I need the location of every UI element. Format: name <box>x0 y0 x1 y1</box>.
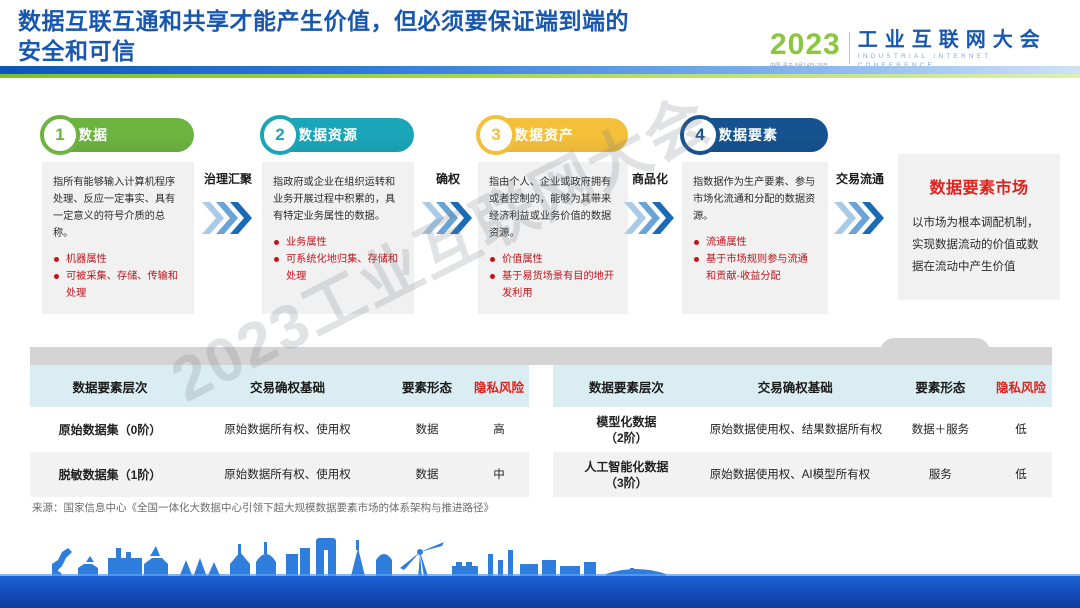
table-cell: 脱敏数据集（1阶） <box>30 452 190 497</box>
page-title-line1: 数据互联互通和共享才能产生价值，但必须要保证端到端的 <box>18 6 748 36</box>
table-cell: 高 <box>469 407 529 452</box>
table-cell: 低 <box>990 452 1052 497</box>
page-title-line2: 安全和可信 <box>18 36 748 66</box>
flow-step-4-bullet: 基于市场规则参与流通和贡献-收益分配 <box>693 251 817 285</box>
logo-divider <box>849 32 850 64</box>
logo-name-cn: 工业互联网大会 <box>858 30 1070 51</box>
table-header-cell: 交易确权基础 <box>190 365 385 407</box>
table-header-cell: 数据要素层次 <box>30 365 190 407</box>
logo-year-block: 2023 中国·青岛 8月14日-18日 <box>770 30 841 69</box>
data-value-chain-flow: 1 数据 指所有能够输入计算机程序处理、反应一定事实、具有一定意义的符号介质的总… <box>0 118 1080 343</box>
table-body: 原始数据集（0阶）原始数据所有权、使用权数据高脱敏数据集（1阶）原始数据所有权、… <box>30 407 529 497</box>
table-cell: 模型化数据（2阶） <box>553 407 700 452</box>
flow-step-3-bullets: 价值属性基于易货场景有目的地开发利用 <box>489 251 617 302</box>
flow-step-2: 2 数据资源 指政府或企业在组织运转和业务开展过程中积累的，具有特定业务属性的数… <box>262 118 414 314</box>
table-cell: 原始数据所有权、使用权 <box>190 452 385 497</box>
table-cell: 原始数据使用权、结果数据所有权 <box>700 407 891 452</box>
flow-step-4-card: 指数据作为生产要素、参与市场化流通和分配的数据资源。 流通属性基于市场规则参与流… <box>682 162 828 314</box>
market-panel-title: 数据要素市场 <box>912 174 1046 198</box>
table-cell: 人工智能化数据（3阶） <box>553 452 700 497</box>
flow-step-2-card: 指政府或企业在组织运转和业务开展过程中积累的，具有特定业务属性的数据。 业务属性… <box>262 162 414 314</box>
table-header-cell: 隐私风险 <box>469 365 529 407</box>
flow-step-1: 1 数据 指所有能够输入计算机程序处理、反应一定事实、具有一定意义的符号介质的总… <box>42 118 194 314</box>
flow-step-1-description: 指所有能够输入计算机程序处理、反应一定事实、具有一定意义的符号介质的总称。 <box>53 174 183 242</box>
flow-connector-1-label: 治理汇聚 <box>190 170 266 187</box>
data-tier-table-right: 数据要素层次交易确权基础要素形态隐私风险 模型化数据（2阶）原始数据使用权、结果… <box>553 365 1052 497</box>
table-cell: 数据 <box>385 452 469 497</box>
table-cell: 数据 <box>385 407 469 452</box>
table-cell: 低 <box>990 407 1052 452</box>
flow-step-4: 4 数据要素 指数据作为生产要素、参与市场化流通和分配的数据资源。 流通属性基于… <box>682 118 828 314</box>
chevron-right-icon <box>612 197 688 239</box>
table-band <box>30 347 1052 365</box>
table-cell: 原始数据集（0阶） <box>30 407 190 452</box>
flow-step-4-bullets: 流通属性基于市场规则参与流通和贡献-收益分配 <box>693 234 817 285</box>
table-row[interactable]: 模型化数据（2阶）原始数据使用权、结果数据所有权数据＋服务低 <box>553 407 1052 452</box>
flow-connector-3-label: 商品化 <box>612 170 688 187</box>
flow-step-3-number: 3 <box>476 115 516 155</box>
flow-step-2-bullets: 业务属性可系统化地归集、存储和处理 <box>273 234 403 285</box>
table-header-cell: 要素形态 <box>385 365 469 407</box>
flow-step-1-card: 指所有能够输入计算机程序处理、反应一定事实、具有一定意义的符号介质的总称。 机器… <box>42 162 194 314</box>
flow-connector-2-label: 确权 <box>410 170 486 187</box>
data-tier-table-left: 数据要素层次交易确权基础要素形态隐私风险 原始数据集（0阶）原始数据所有权、使用… <box>30 365 529 497</box>
table-cell: 数据＋服务 <box>891 407 990 452</box>
market-panel-description: 以市场为根本调配机制，实现数据流动的价值或数据在流动中产生价值 <box>912 212 1046 278</box>
header-green-rule <box>0 74 1080 78</box>
flow-step-2-label: 数据资源 <box>298 125 358 145</box>
table-header-row: 数据要素层次交易确权基础要素形态隐私风险 <box>553 365 1052 407</box>
flow-step-4-bullet: 流通属性 <box>693 234 817 251</box>
flow-step-3-pill: 3 数据资产 <box>478 118 628 152</box>
city-skyline-icon <box>0 538 1080 580</box>
table-row[interactable]: 人工智能化数据（3阶）原始数据使用权、AI模型所有权服务低 <box>553 452 1052 497</box>
data-tier-tables: 数据要素层次交易确权基础要素形态隐私风险 原始数据集（0阶）原始数据所有权、使用… <box>30 365 1052 495</box>
table-header-cell: 要素形态 <box>891 365 990 407</box>
flow-step-4-label: 数据要素 <box>718 125 778 145</box>
table-cell: 服务 <box>891 452 990 497</box>
header-blue-rule <box>0 66 1080 74</box>
page-title: 数据互联互通和共享才能产生价值，但必须要保证端到端的 安全和可信 <box>18 6 748 66</box>
flow-step-2-bullet: 业务属性 <box>273 234 403 251</box>
flow-step-1-number: 1 <box>40 115 80 155</box>
flow-step-2-number: 2 <box>260 115 300 155</box>
table-body: 模型化数据（2阶）原始数据使用权、结果数据所有权数据＋服务低人工智能化数据（3阶… <box>553 407 1052 497</box>
flow-connector-1: 治理汇聚 <box>190 170 266 239</box>
flow-step-3-label: 数据资产 <box>514 125 574 145</box>
flow-step-4-number: 4 <box>680 115 720 155</box>
table-header-cell: 数据要素层次 <box>553 365 700 407</box>
data-element-market-panel: 数据要素市场 以市场为根本调配机制，实现数据流动的价值或数据在流动中产生价值 <box>898 154 1060 300</box>
flow-step-2-description: 指政府或企业在组织运转和业务开展过程中积累的，具有特定业务属性的数据。 <box>273 174 403 225</box>
flow-step-1-bullet: 可被采集、存储、传输和处理 <box>53 268 183 302</box>
flow-step-1-bullets: 机器属性可被采集、存储、传输和处理 <box>53 251 183 302</box>
flow-step-1-label: 数据 <box>78 125 108 145</box>
logo-year: 2023 <box>770 30 841 60</box>
flow-step-4-description: 指数据作为生产要素、参与市场化流通和分配的数据资源。 <box>693 174 817 225</box>
table-row[interactable]: 原始数据集（0阶）原始数据所有权、使用权数据高 <box>30 407 529 452</box>
flow-step-3-description: 指由个人、企业或政府拥有或者控制的，能够为其带来经济利益或业务价值的数据资源。 <box>489 174 617 242</box>
flow-step-2-bullet: 可系统化地归集、存储和处理 <box>273 251 403 285</box>
flow-step-3-bullet: 基于易货场景有目的地开发利用 <box>489 268 617 302</box>
flow-connector-4: 交易流通 <box>822 170 898 239</box>
flow-step-3-card: 指由个人、企业或政府拥有或者控制的，能够为其带来经济利益或业务价值的数据资源。 … <box>478 162 628 314</box>
page-footer <box>0 538 1080 608</box>
table-header-row: 数据要素层次交易确权基础要素形态隐私风险 <box>30 365 529 407</box>
table-cell: 原始数据所有权、使用权 <box>190 407 385 452</box>
flow-connector-2: 确权 <box>410 170 486 239</box>
footer-sea-band <box>0 576 1080 608</box>
flow-step-3-bullet: 价值属性 <box>489 251 617 268</box>
table-row[interactable]: 脱敏数据集（1阶）原始数据所有权、使用权数据中 <box>30 452 529 497</box>
flow-step-1-bullet: 机器属性 <box>53 251 183 268</box>
table-header-cell: 隐私风险 <box>990 365 1052 407</box>
page-header: 数据互联互通和共享才能产生价值，但必须要保证端到端的 安全和可信 2023 中国… <box>0 0 1080 92</box>
chevron-right-icon <box>410 197 486 239</box>
flow-step-2-pill: 2 数据资源 <box>262 118 414 152</box>
table-cell: 原始数据使用权、AI模型所有权 <box>700 452 891 497</box>
flow-step-3: 3 数据资产 指由个人、企业或政府拥有或者控制的，能够为其带来经济利益或业务价值… <box>478 118 628 314</box>
flow-step-1-pill: 1 数据 <box>42 118 194 152</box>
source-note: 来源：国家信息中心《全国一体化大数据中心引领下超大规模数据要素市场的体系架构与推… <box>32 500 494 515</box>
table-cell: 中 <box>469 452 529 497</box>
table-header-cell: 交易确权基础 <box>700 365 891 407</box>
flow-connector-4-label: 交易流通 <box>822 170 898 187</box>
chevron-right-icon <box>822 197 898 239</box>
chevron-right-icon <box>190 197 266 239</box>
flow-step-4-pill: 4 数据要素 <box>682 118 828 152</box>
flow-connector-3: 商品化 <box>612 170 688 239</box>
